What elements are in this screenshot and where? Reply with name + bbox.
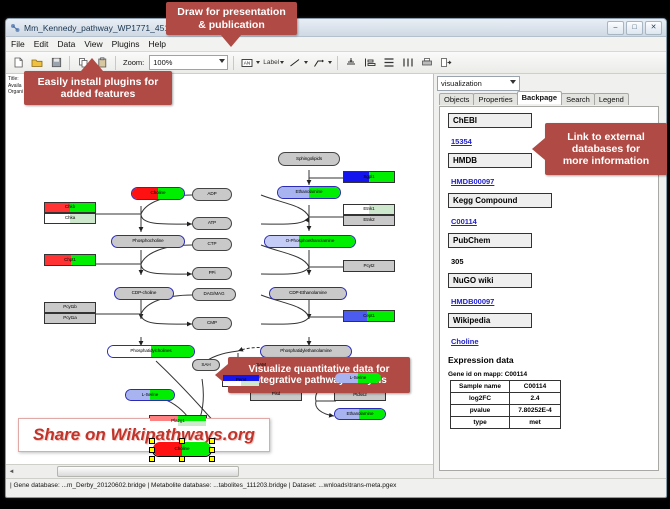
visualization-row: visualization	[434, 74, 666, 92]
db-link-hmdb[interactable]: HMDB00097	[451, 177, 494, 186]
pathvisio-icon	[10, 23, 20, 33]
window-title-bar: Mm_Kennedy_pathway_WP1771_45176.gpml – □…	[6, 19, 666, 37]
callout-draw: Draw for presentation & publication	[166, 2, 297, 35]
cell-log2fc-value: 2.4	[510, 393, 561, 405]
node-dag-mag[interactable]: DAG/MAG	[192, 288, 236, 301]
node-l-serine-right[interactable]: L-Serine	[334, 372, 382, 384]
share-banner-text: Share on Wikipathways.org	[33, 425, 255, 444]
expression-table: Sample name C00114 log2FC 2.4 pvalue 7.8…	[450, 380, 561, 429]
callout-plugins-arrow-icon	[81, 58, 103, 71]
cell-type-value: met	[510, 417, 561, 429]
node-cmp[interactable]: CMP	[192, 317, 232, 330]
status-bar: | Gene database: ...m_Derby_20120602.bri…	[6, 478, 666, 492]
callout-link-line2: databases for	[572, 143, 640, 155]
minimize-button[interactable]: –	[607, 21, 624, 35]
callout-link: Link to external databases for more info…	[545, 123, 667, 175]
close-button[interactable]: ✕	[645, 21, 662, 35]
datanode-icon[interactable]: AN	[239, 55, 255, 71]
datanode-combo[interactable]: AN	[239, 55, 260, 71]
canvas-hscrollbar[interactable]: ◄	[6, 464, 433, 478]
line-combo[interactable]	[287, 55, 308, 71]
svg-text:AN: AN	[244, 60, 250, 65]
chevron-down-icon	[219, 59, 225, 63]
cell-pvalue-label: pvalue	[451, 405, 510, 417]
node-pcyt1b[interactable]: Pcyt1b	[44, 302, 96, 313]
node-ctp[interactable]: CTP	[192, 238, 232, 251]
node-choline-top[interactable]: Choline	[131, 187, 185, 200]
cell-sample-name-value: C00114	[510, 381, 561, 393]
tab-backpage[interactable]: Backpage	[517, 91, 562, 104]
node-chpt1[interactable]: Chpt1	[44, 254, 96, 266]
db-link-chebi[interactable]: 15354	[451, 137, 472, 146]
callout-draw-line1: Draw for presentation	[177, 6, 286, 18]
maximize-button[interactable]: □	[626, 21, 643, 35]
export-icon[interactable]	[438, 55, 454, 71]
db-value-pubchem: 305	[451, 257, 464, 266]
callout-link-line1: Link to external	[567, 131, 645, 143]
menu-file[interactable]: File	[11, 39, 25, 49]
arrow-icon[interactable]	[311, 55, 327, 71]
db-link-nugo[interactable]: HMDB00097	[451, 297, 494, 306]
label-combo[interactable]: Label	[263, 59, 284, 66]
share-banner: Share on Wikipathways.org	[18, 418, 270, 452]
chevron-down-icon	[256, 61, 260, 64]
menu-help[interactable]: Help	[149, 39, 166, 49]
tab-legend[interactable]: Legend	[594, 93, 629, 105]
db-link-wikipedia[interactable]: Choline	[451, 337, 479, 346]
node-chka[interactable]: Chka	[44, 213, 96, 224]
align-left-icon[interactable]	[362, 55, 378, 71]
node-etnk2[interactable]: Etnk2	[343, 215, 395, 226]
scroll-left-icon[interactable]: ◄	[6, 466, 17, 477]
node-sgpl1[interactable]: Sgpl1	[343, 171, 395, 183]
chevron-down-icon	[328, 61, 332, 64]
callout-link-arrow-icon	[532, 138, 545, 160]
table-row: Sample name C00114	[451, 381, 561, 393]
node-l-serine-left[interactable]: L-Serine	[125, 389, 175, 401]
callout-plugins-line2: added features	[61, 88, 136, 100]
menu-view[interactable]: View	[84, 39, 102, 49]
cell-sample-name-label: Sample name	[451, 381, 510, 393]
new-file-icon[interactable]	[10, 55, 26, 71]
menu-bar: File Edit Data View Plugins Help	[6, 37, 666, 52]
toolbar-separator	[69, 56, 70, 70]
table-row: log2FC 2.4	[451, 393, 561, 405]
visualization-combo[interactable]: visualization	[437, 76, 520, 91]
callout-plugins-line1: Easily install plugins for	[38, 76, 159, 88]
status-bar-text: | Gene database: ...m_Derby_20120602.bri…	[10, 482, 396, 489]
menu-edit[interactable]: Edit	[34, 39, 49, 49]
label-tool-label: Label	[263, 59, 279, 66]
tab-objects[interactable]: Objects	[439, 93, 474, 105]
hscroll-thumb[interactable]	[57, 466, 239, 477]
node-pla2g1[interactable]: Pla2g1	[149, 415, 207, 427]
save-icon[interactable]	[48, 55, 64, 71]
node-chkb[interactable]: Chkb	[44, 202, 96, 213]
node-pcyt2[interactable]: Pcyt2	[343, 260, 395, 272]
visualization-value: visualization	[441, 79, 482, 88]
node-phosphatidylcholines[interactable]: Phosphatidylcholines	[107, 345, 195, 358]
zoom-value: 100%	[153, 58, 172, 67]
node-pcyt1a[interactable]: Pcyt1a	[44, 313, 96, 324]
callout-plugins: Easily install plugins for added feature…	[24, 71, 172, 105]
chevron-down-icon	[304, 61, 308, 64]
print-icon[interactable]	[419, 55, 435, 71]
node-pemt[interactable]: Pemt	[222, 374, 260, 387]
node-ethanolamine-bottom[interactable]: Ethanolamine	[334, 408, 386, 420]
align-center-icon[interactable]	[343, 55, 359, 71]
cell-pvalue-value: 7.80252E-4	[510, 405, 561, 417]
node-phosphocholine[interactable]: Phosphocholine	[111, 235, 185, 248]
node-ppi[interactable]: PPi	[192, 267, 232, 280]
table-row: pvalue 7.80252E-4	[451, 405, 561, 417]
callout-draw-line2: & publication	[198, 19, 265, 31]
menu-plugins[interactable]: Plugins	[112, 39, 140, 49]
toolbar-separator	[115, 56, 116, 70]
chevron-down-icon	[280, 61, 284, 64]
node-ethanolamine-top[interactable]: Ethanolamine	[277, 186, 341, 199]
node-etnk1[interactable]: Etnk1	[343, 204, 395, 215]
zoom-combo[interactable]: 100%	[149, 55, 228, 70]
zoom-label: Zoom:	[123, 58, 144, 67]
node-adp[interactable]: ADP	[192, 188, 232, 201]
node-cdp-ethanolamine[interactable]: CDP-Ethanolamine	[269, 287, 347, 300]
callout-draw-arrow-icon	[220, 34, 242, 47]
db-header-wikipedia: Wikipedia	[448, 313, 532, 328]
callout-link-line3: more information	[563, 155, 649, 167]
node-cept1[interactable]: Cept1	[343, 310, 395, 322]
node-sphingolipids[interactable]: Sphingolipids	[278, 152, 340, 166]
db-header-hmdb: HMDB	[448, 153, 532, 168]
toolbar-separator	[233, 56, 234, 70]
chevron-down-icon	[510, 80, 516, 84]
node-o-phosphoethanolamine[interactable]: O-Phosphoethanolamine	[264, 235, 356, 248]
arrow-combo[interactable]	[311, 55, 332, 71]
db-header-nugo: NuGO wiki	[448, 273, 532, 288]
side-panel-tabs: Objects Properties Backpage Search Legen…	[434, 92, 666, 105]
tab-search[interactable]: Search	[561, 93, 595, 105]
window-controls[interactable]: – □ ✕	[607, 21, 662, 35]
screenshot-root: Mm_Kennedy_pathway_WP1771_45176.gpml – □…	[0, 0, 670, 509]
node-atp[interactable]: ATP	[192, 217, 232, 230]
db-header-chebi: ChEBI	[448, 113, 532, 128]
tab-properties[interactable]: Properties	[473, 93, 517, 105]
open-folder-icon[interactable]	[29, 55, 45, 71]
db-header-kegg: Kegg Compound	[448, 193, 552, 208]
line-icon[interactable]	[287, 55, 303, 71]
cell-type-label: type	[451, 417, 510, 429]
cell-log2fc-label: log2FC	[451, 393, 510, 405]
table-row: type met	[451, 417, 561, 429]
expression-data-header: Expression data	[448, 355, 658, 365]
node-cdp-choline[interactable]: CDP-choline	[114, 287, 174, 300]
pathway-canvas[interactable]: Title: Availa Organi	[6, 74, 433, 464]
toolbar-separator	[337, 56, 338, 70]
distribute-vertical-icon[interactable]	[381, 55, 397, 71]
distribute-horizontal-icon[interactable]	[400, 55, 416, 71]
db-link-kegg[interactable]: C00114	[451, 217, 477, 226]
gene-id-line: Gene id on mapp: C00114	[448, 371, 658, 378]
menu-data[interactable]: Data	[57, 39, 75, 49]
db-header-pubchem: PubChem	[448, 233, 532, 248]
